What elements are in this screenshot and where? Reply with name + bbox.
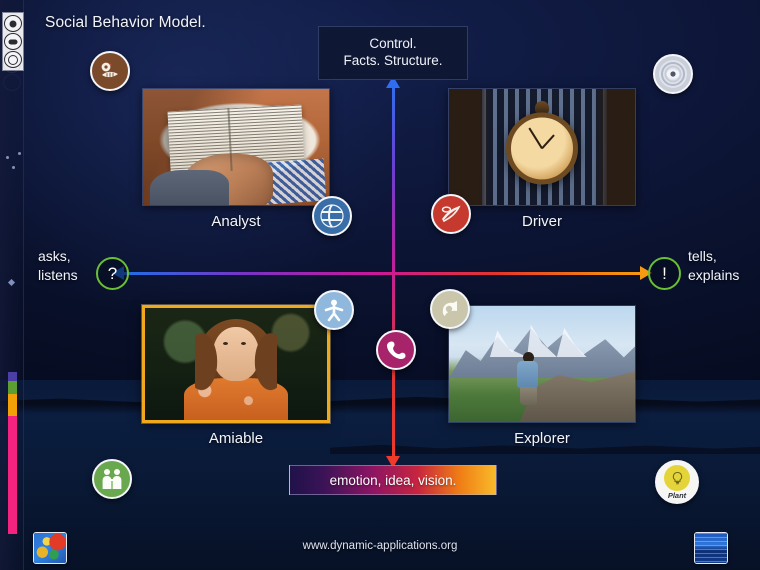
idea-fish-icon[interactable] bbox=[90, 51, 130, 91]
quadrant-card-driver[interactable]: Driver bbox=[448, 88, 636, 230]
axis-right-label-line1: tells, bbox=[688, 247, 739, 266]
portrait-image bbox=[145, 308, 327, 420]
page-title: Social Behavior Model. bbox=[45, 14, 206, 32]
constellation-dots-icon bbox=[6, 152, 22, 174]
color-swatch-pink[interactable] bbox=[8, 416, 17, 534]
horizontal-axis bbox=[122, 272, 644, 275]
analyst-caption: Analyst bbox=[142, 213, 330, 230]
color-swatch-purple[interactable] bbox=[8, 372, 17, 381]
hiker-legs bbox=[520, 387, 537, 405]
tool-icon[interactable] bbox=[431, 194, 471, 234]
slide-canvas: Social Behavior Model. Control. Facts. S… bbox=[0, 0, 760, 570]
axis-right-label-line2: explains bbox=[688, 266, 739, 285]
quadrant-card-analyst[interactable]: Analyst bbox=[142, 88, 330, 230]
bulb-glyph bbox=[664, 465, 690, 491]
driver-caption: Driver bbox=[448, 213, 636, 230]
mountain-hiker-image bbox=[449, 306, 635, 422]
record-icon[interactable] bbox=[4, 15, 22, 32]
axis-left-label: asks, listens bbox=[38, 247, 78, 285]
axis-bottom-label-text: emotion, idea, vision. bbox=[330, 473, 457, 488]
station-clock-image bbox=[449, 89, 635, 205]
analyst-photo bbox=[142, 88, 330, 206]
quadrant-card-explorer[interactable]: Explorer bbox=[448, 305, 636, 447]
vertical-color-strip[interactable] bbox=[8, 372, 17, 534]
portrait-eye-left bbox=[223, 342, 228, 345]
axis-left-label-line2: listens bbox=[38, 266, 78, 285]
axis-left-label-line1: asks, bbox=[38, 247, 78, 266]
megaphone-icon[interactable] bbox=[430, 289, 470, 329]
phone-icon[interactable] bbox=[376, 330, 416, 370]
color-swatch-green[interactable] bbox=[8, 381, 17, 394]
axis-top-label-box: Control. Facts. Structure. bbox=[318, 26, 468, 80]
rail-ghost-icon-2 bbox=[3, 74, 21, 91]
explorer-caption: Explorer bbox=[448, 430, 636, 447]
axis-right-label: tells, explains bbox=[688, 247, 739, 285]
portrait-head bbox=[213, 327, 259, 381]
amiable-photo bbox=[142, 305, 330, 423]
lightbulb-icon[interactable]: Plant bbox=[655, 460, 699, 504]
quadrant-card-amiable[interactable]: Amiable bbox=[142, 305, 330, 447]
book-sleeve bbox=[150, 170, 228, 206]
community-icon[interactable] bbox=[92, 459, 132, 499]
explorer-photo bbox=[448, 305, 636, 423]
clock-face bbox=[506, 112, 578, 184]
eye-icon[interactable] bbox=[653, 54, 693, 94]
hiker-body bbox=[517, 361, 538, 388]
rail-ghost-icon-1 bbox=[3, 56, 21, 73]
exclamation-endcap: ! bbox=[648, 257, 681, 290]
axis-top-label-line1: Control. bbox=[325, 35, 461, 52]
footer-url[interactable]: www.dynamic-applications.org bbox=[0, 540, 760, 552]
amiable-caption: Amiable bbox=[142, 430, 330, 447]
open-book-image bbox=[143, 89, 329, 205]
question-mark-endcap: ? bbox=[96, 257, 129, 290]
person-icon[interactable] bbox=[314, 290, 354, 330]
diamond-marker-icon bbox=[8, 279, 15, 286]
portrait-body bbox=[184, 378, 288, 420]
globe-gear-icon[interactable] bbox=[312, 196, 352, 236]
color-swatch-orange[interactable] bbox=[8, 394, 17, 416]
eject-icon[interactable] bbox=[4, 33, 22, 50]
axis-top-label-line2: Facts. Structure. bbox=[325, 52, 461, 69]
driver-photo bbox=[448, 88, 636, 206]
portrait-eye-right bbox=[241, 342, 246, 345]
plant-label: Plant bbox=[668, 492, 686, 500]
axis-bottom-label-box: emotion, idea, vision. bbox=[289, 465, 497, 495]
